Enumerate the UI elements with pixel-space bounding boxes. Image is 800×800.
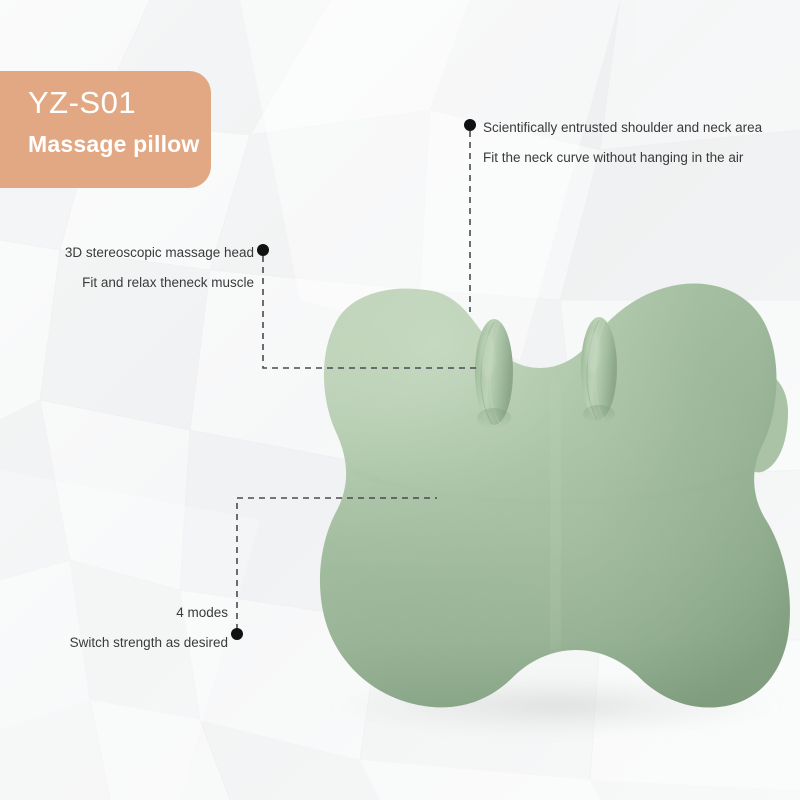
callout-shoulder-neck-line2: Fit the neck curve without hanging in th… bbox=[483, 143, 762, 173]
callout-shoulder-neck-line1: Scientifically entrusted shoulder and ne… bbox=[483, 120, 762, 135]
product-model-code: YZ-S01 bbox=[28, 83, 211, 123]
callout-modes: 4 modes Switch strength as desired bbox=[28, 598, 228, 658]
product-title-badge: YZ-S01 Massage pillow bbox=[0, 71, 211, 188]
callout-massage-head-line2: Fit and relax theneck muscle bbox=[48, 268, 254, 298]
product-infographic: YZ-S01 Massage pillow Scientifically ent… bbox=[0, 0, 800, 800]
callout-modes-line2: Switch strength as desired bbox=[28, 628, 228, 658]
pillow-body bbox=[300, 270, 800, 730]
callout-massage-head: 3D stereoscopic massage head Fit and rel… bbox=[48, 238, 254, 298]
callout-modes-line1: 4 modes bbox=[176, 605, 228, 620]
callout-shoulder-neck: Scientifically entrusted shoulder and ne… bbox=[483, 113, 762, 173]
product-name-label: Massage pillow bbox=[28, 127, 211, 161]
callout-massage-head-line1: 3D stereoscopic massage head bbox=[65, 245, 254, 260]
